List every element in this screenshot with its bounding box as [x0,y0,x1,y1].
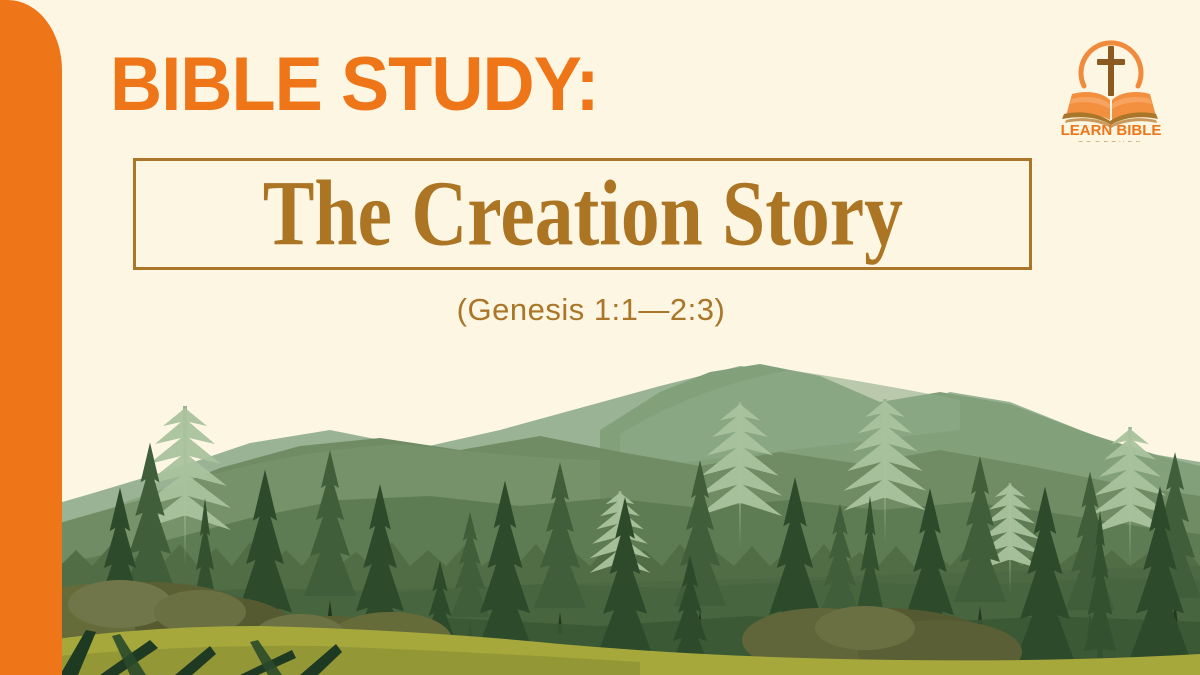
cross-icon [1097,46,1125,96]
page-title: The Creation Story [262,168,902,261]
title-frame: The Creation Story [133,158,1032,270]
learn-bible-together-logo: LEARN BIBLE TOGETHER [1046,24,1176,142]
scripture-reference: (Genesis 1:1—2:3) [0,292,1182,328]
slide-kicker: BIBLE STUDY: [110,47,599,123]
logo-brand-line1: LEARN BIBLE [1061,122,1162,139]
left-orange-band [0,0,62,675]
logo-brand-line2: TOGETHER [1078,139,1144,142]
slide-canvas: BIBLE STUDY: The Creation Story (Genesis… [0,0,1200,675]
